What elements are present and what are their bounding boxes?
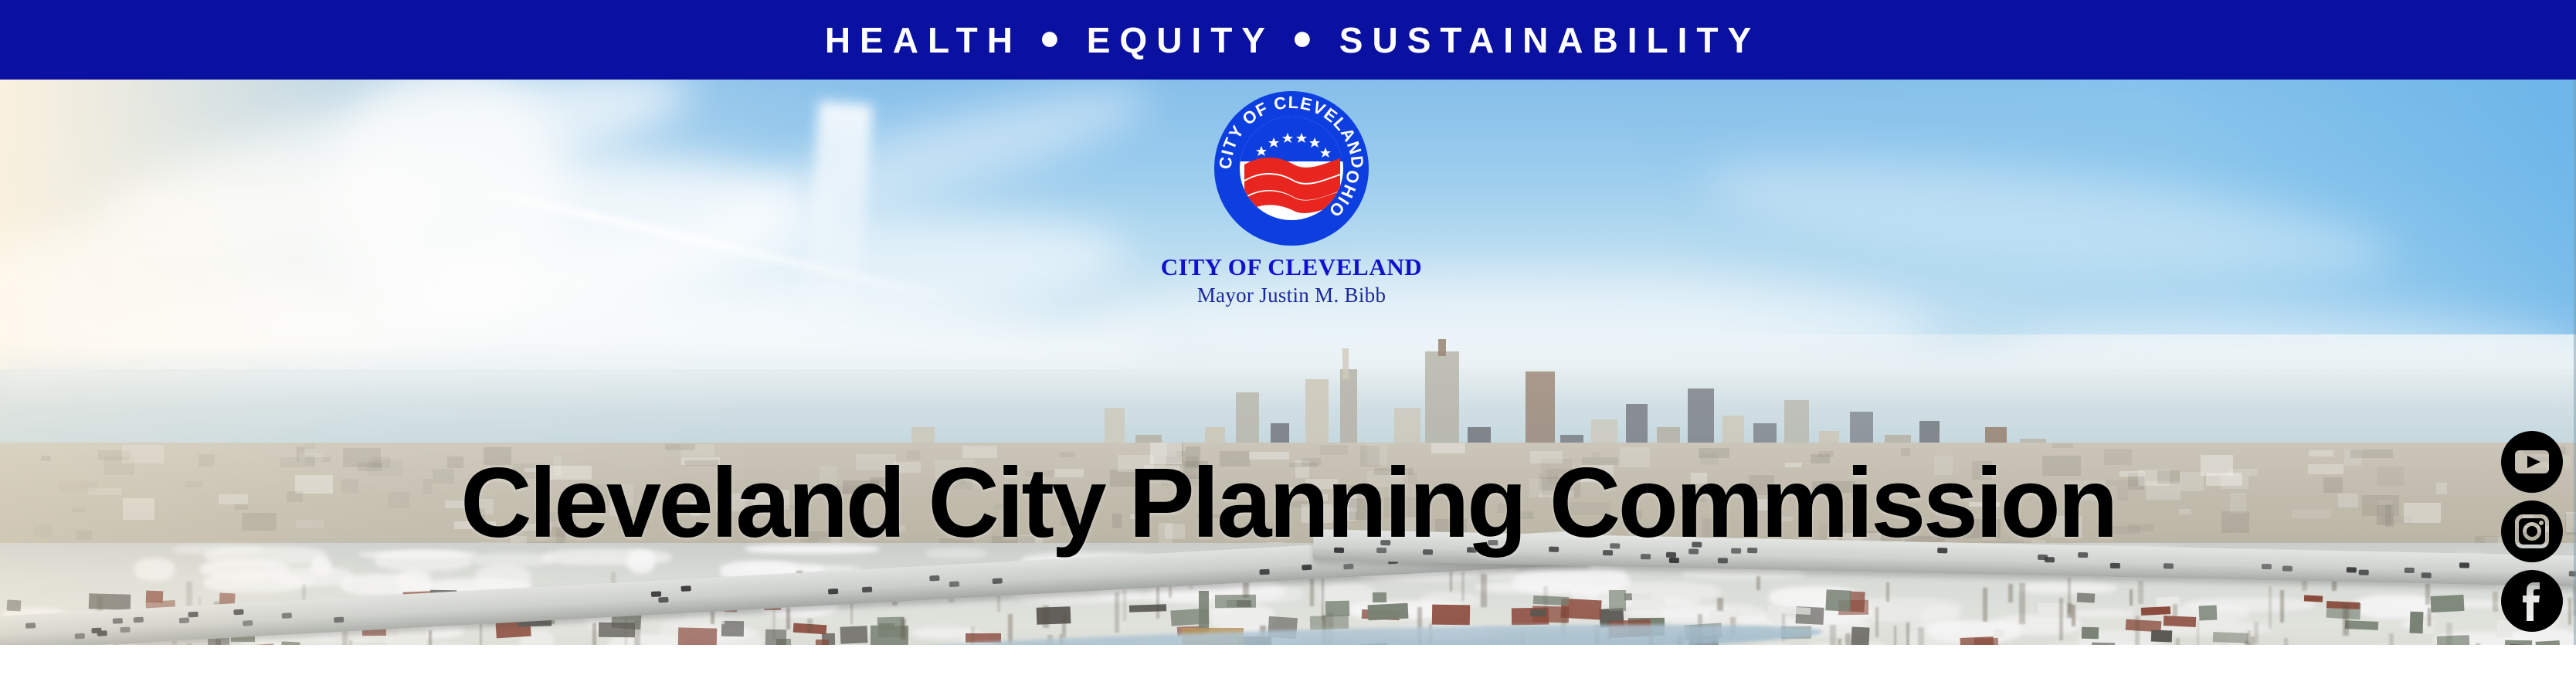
bare-tree	[1481, 574, 1487, 606]
bare-tree	[1886, 582, 1890, 602]
social-media-rail	[2500, 431, 2564, 632]
vehicle	[828, 589, 838, 595]
cleveland-city-seal-icon: CITY OF CLEVELAND OHIO	[1214, 91, 1369, 246]
building-roof	[2037, 602, 2068, 616]
building-roof	[146, 591, 164, 602]
building-roof	[1994, 629, 2004, 637]
building-roof	[88, 593, 130, 610]
vehicle	[234, 609, 244, 615]
building-roof	[1533, 595, 1569, 606]
vehicle	[179, 617, 189, 623]
building-roof	[6, 600, 20, 612]
vehicle	[75, 633, 85, 639]
building-roof	[2199, 606, 2218, 621]
building-roof	[216, 638, 230, 645]
vehicle	[862, 587, 872, 593]
building-roof	[840, 626, 867, 643]
seal-flag-and-stars	[1240, 117, 1343, 220]
snow-patch	[134, 558, 175, 580]
building-roof	[678, 628, 718, 645]
building-roof	[1631, 590, 1665, 607]
bare-tree	[2072, 605, 2075, 626]
bare-tree	[2068, 578, 2071, 613]
bare-tree	[2343, 604, 2348, 636]
bare-tree	[592, 623, 596, 645]
bare-tree	[2138, 581, 2143, 604]
building-roof	[2081, 627, 2098, 639]
building-roof	[2436, 635, 2469, 645]
top-banner: HEALTH●EQUITY●SUSTAINABILITY	[0, 0, 2576, 80]
vehicle	[949, 581, 959, 587]
bare-tree	[1983, 588, 1987, 621]
bare-tree	[1322, 578, 1324, 621]
organization-name: CITY OF CLEVELAND	[1152, 255, 1431, 280]
bare-tree	[1756, 576, 1760, 590]
building-roof	[1851, 627, 1870, 645]
vehicle	[1302, 565, 1312, 571]
bare-tree	[1008, 614, 1013, 643]
bare-tree	[1838, 639, 1841, 645]
building-roof	[2409, 612, 2423, 633]
bare-tree	[2059, 598, 2063, 640]
bare-tree	[1830, 625, 1835, 645]
youtube-icon-svg	[2501, 431, 2563, 493]
bare-tree	[2250, 636, 2255, 645]
bare-tree	[1450, 572, 1453, 592]
banner-word-equity: EQUITY	[1087, 20, 1274, 60]
vehicle	[658, 597, 668, 603]
banner-word-health: HEALTH	[825, 20, 1022, 60]
snow-patch	[311, 557, 331, 576]
bare-tree	[1115, 592, 1119, 633]
vehicle	[930, 575, 940, 582]
building-roof	[1372, 592, 1386, 602]
snow-patch	[2074, 609, 2134, 616]
bare-tree	[1123, 589, 1126, 621]
bare-tree	[1717, 598, 1723, 611]
banner-word-sustainability: SUSTAINABILITY	[1339, 20, 1760, 60]
key-tower-spire	[1438, 339, 1446, 356]
vehicle	[2110, 563, 2120, 568]
bare-tree	[807, 619, 813, 633]
bare-tree	[2176, 638, 2180, 645]
building-roof	[599, 622, 635, 637]
bare-tree	[1918, 627, 1924, 645]
building-roof	[2213, 632, 2249, 643]
bare-tree	[2008, 584, 2013, 602]
building-roof	[1529, 609, 1545, 616]
building-roof	[2163, 616, 2196, 627]
city-logo-block[interactable]: CITY OF CLEVELAND OHIO	[1152, 91, 1431, 323]
building-roof	[1215, 595, 1256, 608]
vehicle	[282, 612, 292, 619]
vehicle	[1718, 558, 1728, 563]
urban-texture	[2052, 443, 2073, 447]
snow-patch	[2017, 582, 2116, 594]
vehicle	[120, 626, 130, 633]
bare-tree	[1845, 633, 1851, 645]
vehicle	[2358, 570, 2368, 575]
snow-patch	[1921, 605, 1959, 633]
building-roof	[816, 640, 829, 645]
vehicle	[2422, 572, 2432, 578]
building-roof	[1609, 590, 1626, 611]
vehicle	[1669, 558, 1679, 563]
snow-patch	[1993, 615, 2082, 634]
bare-tree	[1062, 614, 1065, 638]
facebook-icon[interactable]	[2501, 570, 2563, 632]
bare-tree	[2425, 584, 2430, 605]
mayor-name: Mayor Justin M. Bibb	[1152, 283, 1431, 307]
bare-tree	[1894, 626, 1896, 645]
building-roof	[1826, 589, 1852, 611]
seal-stars	[1256, 133, 1331, 158]
banner-bullet-separator-2: ●	[1274, 19, 1339, 55]
building-roof	[2345, 620, 2379, 629]
church-steeple	[1199, 591, 1209, 633]
bare-tree	[2446, 623, 2452, 645]
vehicle	[188, 612, 198, 618]
american-flag-icon	[1244, 158, 1340, 213]
snow-patch	[204, 574, 304, 593]
vehicle	[2261, 564, 2271, 569]
bare-tree	[1461, 572, 1465, 601]
instagram-icon[interactable]	[2501, 500, 2563, 562]
vehicle	[2347, 567, 2357, 572]
top-banner-text: HEALTH●EQUITY●SUSTAINABILITY	[816, 22, 1760, 58]
bare-tree	[2269, 586, 2272, 629]
bare-tree	[2568, 598, 2571, 625]
building-roof	[765, 629, 786, 645]
bare-tree	[2280, 590, 2283, 623]
bare-tree	[2428, 608, 2431, 626]
building-roof	[2431, 595, 2465, 612]
building-roof	[1432, 605, 1470, 626]
bare-tree	[901, 619, 907, 640]
bare-tree	[480, 623, 482, 645]
vehicle	[25, 623, 36, 629]
vehicle	[97, 630, 107, 636]
vehicle	[334, 616, 344, 623]
bare-tree	[2173, 604, 2177, 617]
vehicle	[2164, 563, 2174, 568]
vehicle	[113, 618, 123, 624]
vehicle	[681, 586, 691, 592]
building-roof	[1368, 602, 1409, 619]
building-roof	[2304, 595, 2323, 602]
bare-tree	[634, 620, 640, 645]
building-roof	[2077, 593, 2096, 603]
bare-tree	[2197, 620, 2199, 645]
building-roof	[2151, 630, 2172, 643]
youtube-icon[interactable]	[2501, 431, 2563, 493]
bare-tree	[2130, 589, 2133, 606]
bare-tree	[2135, 616, 2140, 645]
vehicle	[1260, 568, 1270, 575]
bare-tree	[1543, 586, 1548, 610]
bare-tree	[786, 608, 790, 629]
building-roof	[1960, 636, 1994, 645]
bare-tree	[342, 630, 347, 645]
bare-tree	[772, 607, 776, 640]
page-title: Cleveland City Planning Commission	[0, 454, 2576, 553]
seal-inner-disc	[1240, 117, 1343, 220]
vehicle	[134, 616, 144, 623]
vehicle	[2282, 566, 2293, 572]
bare-tree	[1043, 606, 1049, 629]
banner-bullet-separator-1: ●	[1022, 19, 1087, 55]
bare-tree	[429, 630, 432, 645]
bottom-white-strip	[0, 645, 2576, 682]
instagram-icon-svg	[2501, 500, 2563, 562]
bare-tree	[1906, 623, 1909, 645]
bare-tree	[2284, 638, 2288, 645]
bare-tree	[2389, 633, 2394, 645]
building-roof	[1849, 592, 1865, 612]
bare-tree	[2493, 592, 2498, 612]
bare-tree	[2019, 583, 2024, 624]
vehicle	[1343, 564, 1353, 570]
vehicle	[243, 620, 253, 626]
building-roof	[1129, 605, 1166, 612]
vehicle	[2404, 568, 2414, 573]
terminal-tower-spire	[1342, 348, 1349, 379]
page-root: HEALTH●EQUITY●SUSTAINABILITY	[0, 0, 2576, 682]
bare-tree	[1875, 607, 1879, 637]
vehicle	[2459, 562, 2469, 568]
vehicle	[993, 578, 1003, 584]
vehicle	[650, 592, 660, 598]
facebook-icon-svg	[2501, 570, 2563, 632]
